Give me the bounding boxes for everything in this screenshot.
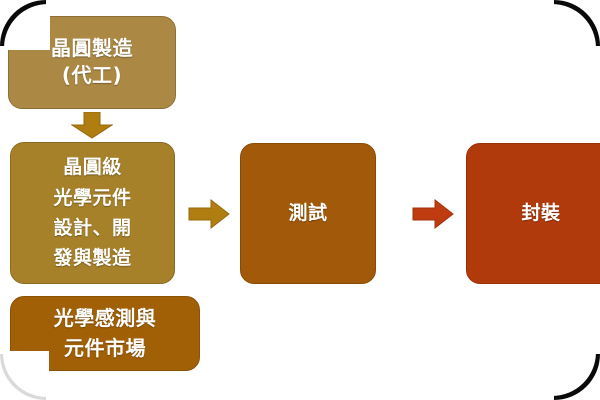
arrow-right-icon-wafer-to-test (188, 199, 230, 229)
process-node-optical-sensing-market-line-1: 光學感測與 (54, 306, 157, 332)
process-node-test[interactable]: 測試 (240, 143, 376, 284)
process-node-packaging-label: 封裝 (521, 201, 560, 225)
arrow-down-icon-foundry-to-wafer (71, 112, 113, 139)
process-node-wafer-level-optics-line-1: 晶圓級 (63, 155, 122, 179)
process-node-wafer-level-optics-line-2: 光學元件 (53, 186, 131, 210)
frame-corner-top-right (554, 0, 600, 46)
process-node-wafer-level-optics[interactable]: 晶圓級 光學元件 設計、開 發與製造 (10, 142, 175, 284)
process-node-packaging[interactable]: 封裝 (466, 143, 600, 284)
process-node-foundry-line-1: 晶圓製造 (51, 36, 133, 62)
arrow-right-icon-test-to-package (412, 199, 454, 229)
process-node-wafer-level-optics-line-4: 發與製造 (53, 246, 131, 270)
process-node-optical-sensing-market-line-2: 元件市場 (64, 336, 146, 362)
process-node-foundry-line-2: (代工) (62, 63, 122, 89)
diagram-canvas: 晶圓製造 (代工) 晶圓級 光學元件 設計、開 發與製造 光學感測與 元件市場 … (0, 0, 600, 400)
process-node-test-label: 測試 (288, 201, 327, 225)
process-node-wafer-level-optics-line-3: 設計、開 (53, 216, 131, 240)
process-node-foundry[interactable]: 晶圓製造 (代工) (8, 16, 176, 109)
process-node-optical-sensing-market[interactable]: 光學感測與 元件市場 (10, 296, 200, 371)
frame-corner-bottom-right (554, 354, 600, 400)
